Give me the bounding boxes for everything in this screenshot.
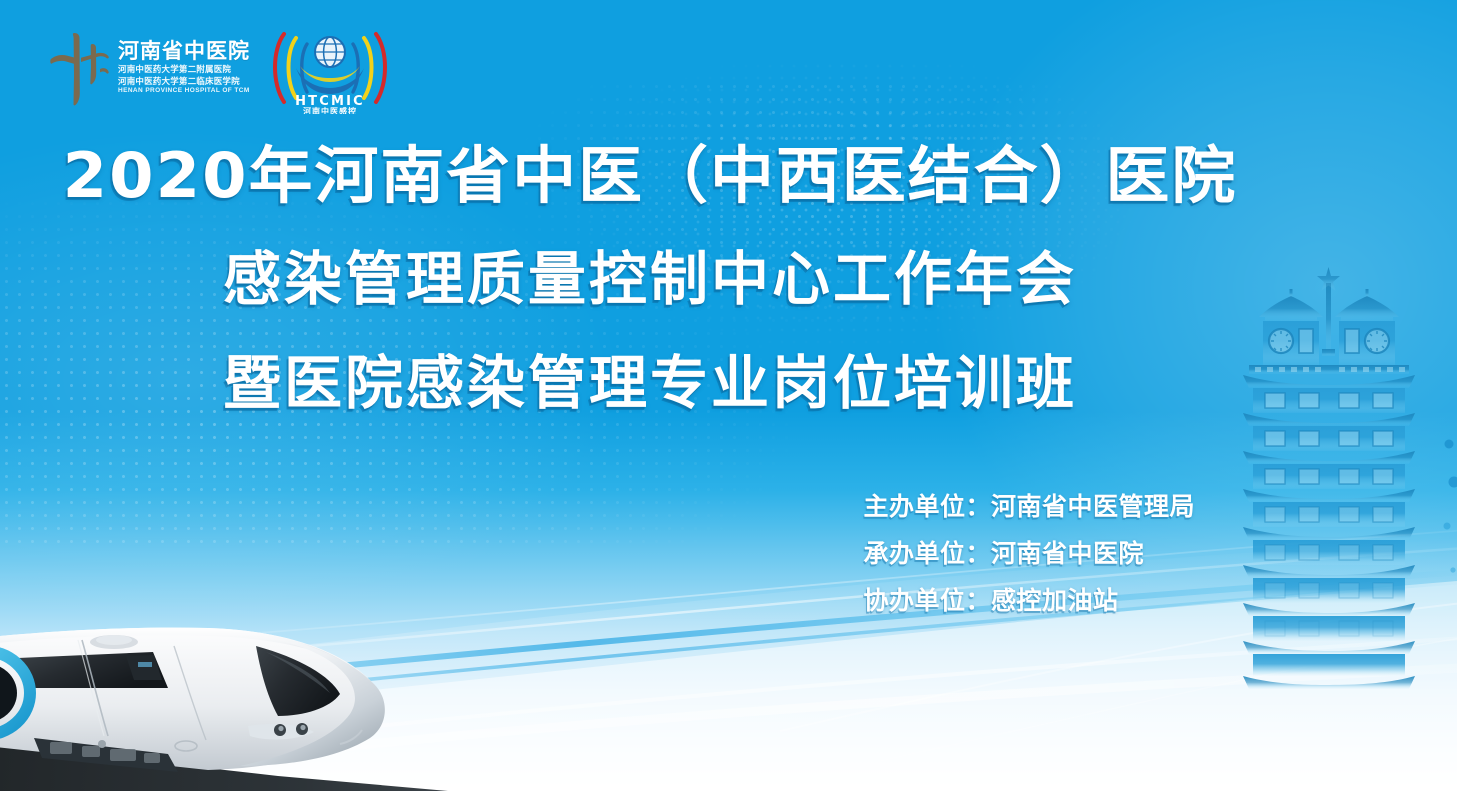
globe-in-hands-soundwave-icon: HTCMIC 河南中医感控 <box>268 22 392 114</box>
title-line-3: 暨医院感染管理专业岗位培训班 <box>0 352 1300 416</box>
logo-row: 河南省中医院 河南中医药大学第二附属医院 河南中医药大学第二临床医学院 HENA… <box>48 22 392 114</box>
hospital-logo: 河南省中医院 河南中医药大学第二附属医院 河南中医药大学第二临床医学院 HENA… <box>48 29 250 107</box>
conference-banner: 河南省中医院 河南中医药大学第二附属医院 河南中医药大学第二临床医学院 HENA… <box>0 0 1457 791</box>
hospital-subtitle-2: 河南中医药大学第二临床医学院 <box>118 77 250 86</box>
svg-text:河南中医感控: 河南中医感控 <box>303 106 357 114</box>
htcmic-logo: HTCMIC 河南中医感控 <box>268 22 392 114</box>
hospital-name-cn: 河南省中医院 <box>118 41 250 62</box>
organizer-host: 主办单位：河南省中医管理局 <box>863 494 1195 519</box>
organizer-co-host: 协办单位：感控加油站 <box>863 588 1195 613</box>
hospital-subtitle-1: 河南中医药大学第二附属医院 <box>118 65 250 74</box>
tcm-cross-calligraphy-icon <box>48 29 110 107</box>
title-line-2: 感染管理质量控制中心工作年会 <box>0 248 1300 312</box>
organizer-undertaker: 承办单位：河南省中医院 <box>863 541 1195 566</box>
hospital-subtitle-en: HENAN PROVINCE HOSPITAL OF TCM <box>118 88 250 95</box>
organizer-list: 主办单位：河南省中医管理局 承办单位：河南省中医院 协办单位：感控加油站 <box>863 494 1195 613</box>
event-title: 2020年河南省中医（中西医结合）医院 感染管理质量控制中心工作年会 暨医院感染… <box>0 142 1300 416</box>
title-line-1: 2020年河南省中医（中西医结合）医院 <box>0 142 1320 210</box>
hospital-logo-text: 河南省中医院 河南中医药大学第二附属医院 河南中医药大学第二临床医学院 HENA… <box>118 41 250 95</box>
